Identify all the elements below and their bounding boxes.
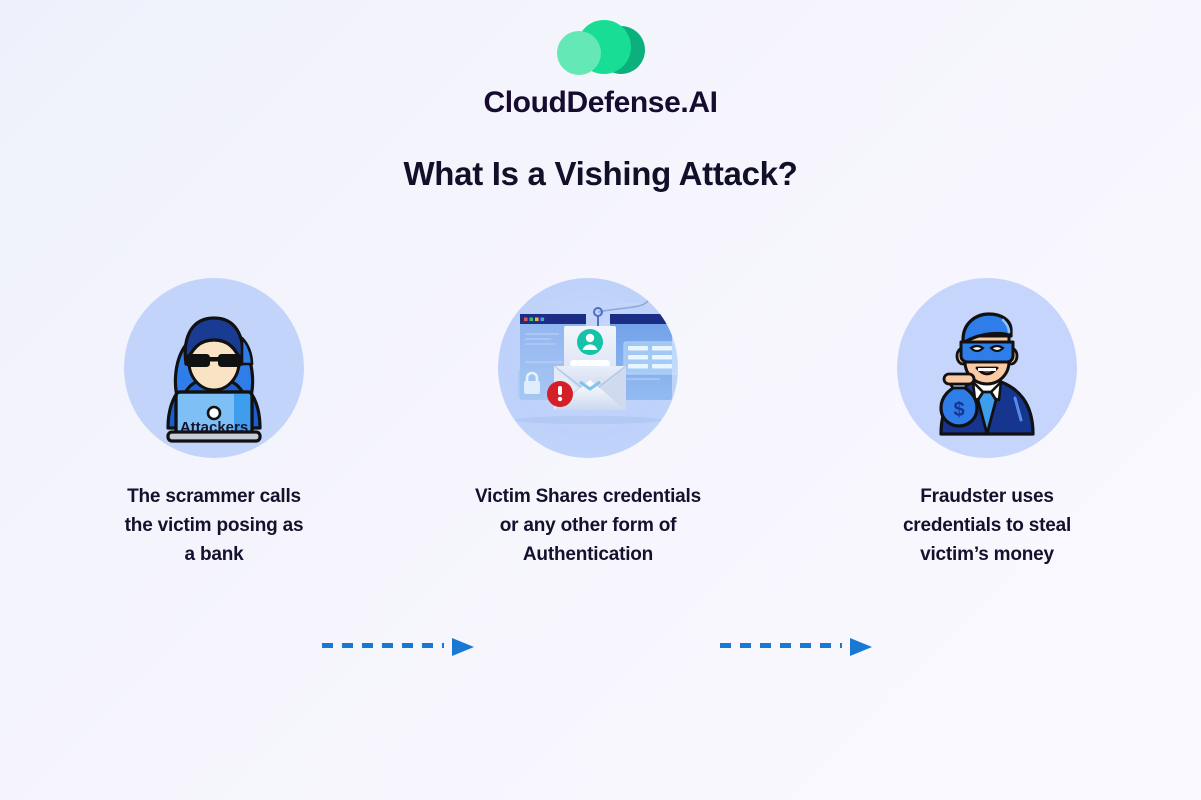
infographic-page: CloudDefense.AI What Is a Vishing Attack… — [0, 0, 1201, 800]
caption-line: Fraudster uses — [857, 483, 1117, 512]
brand-name: CloudDefense.AI — [0, 86, 1201, 120]
flow-diagram: Attackers The scrammer calls the victim … — [0, 278, 1201, 578]
illustration-circle-attackers: Attackers — [124, 278, 304, 458]
caption-line: or any other form of — [458, 512, 718, 541]
illustration-circle-phishing — [498, 278, 678, 458]
caption-line: The scrammer calls — [84, 483, 344, 512]
caption-line: a bank — [84, 541, 344, 570]
attackers-inline-label: Attackers — [124, 419, 304, 436]
caption-line: Authentication — [458, 541, 718, 570]
arrow-head-icon — [452, 638, 474, 656]
flow-step-theft: $ Fraudster uses credentials to steal vi… — [857, 278, 1117, 570]
flow-step-attackers: Attackers The scrammer calls the victim … — [84, 278, 344, 570]
flow-connector-arrow-1 — [322, 638, 474, 654]
step-caption-credentials: Victim Shares credentials or any other f… — [458, 483, 718, 570]
dashed-line — [322, 643, 444, 648]
flow-connector-arrow-2 — [720, 638, 872, 654]
brand-header: CloudDefense.AI — [0, 18, 1201, 120]
caption-line: Victim Shares credentials — [458, 483, 718, 512]
dashed-line — [720, 643, 842, 648]
caption-line: credentials to steal — [857, 512, 1117, 541]
clouddefense-logo-icon — [553, 18, 649, 76]
arrow-head-icon — [850, 638, 872, 656]
svg-text:$: $ — [953, 399, 964, 421]
illustration-circle-fraudster: $ — [897, 278, 1077, 458]
caption-line: victim’s money — [857, 541, 1117, 570]
phishing-email-illustration — [498, 278, 678, 458]
caption-line: the victim posing as — [84, 512, 344, 541]
step-caption-attackers: The scrammer calls the victim posing as … — [84, 483, 344, 570]
page-title: What Is a Vishing Attack? — [0, 155, 1201, 193]
fraudster-money-bag-illustration: $ — [897, 278, 1077, 458]
flow-step-credentials: Victim Shares credentials or any other f… — [458, 278, 718, 570]
step-caption-theft: Fraudster uses credentials to steal vict… — [857, 483, 1117, 570]
